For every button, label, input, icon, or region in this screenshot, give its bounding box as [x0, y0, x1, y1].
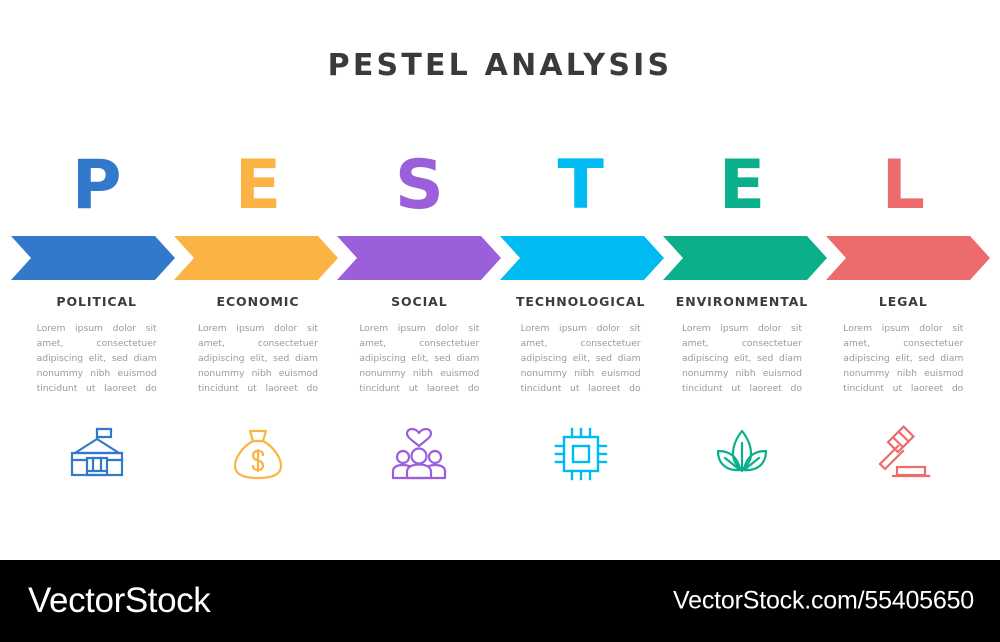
- letter-cell-economic: E: [177, 148, 338, 224]
- chevron-technological[interactable]: [500, 236, 664, 280]
- microchip-icon: [549, 423, 613, 485]
- column-body-political: Lorem ipsum dolor sit amet, consectetuer…: [37, 322, 157, 397]
- column-heading-environmental: ENVIRONMENTAL: [676, 294, 808, 309]
- gavel-icon: [871, 423, 935, 485]
- column-heading-political: POLITICAL: [56, 294, 137, 309]
- big-letter-p: P: [72, 152, 122, 220]
- page-title: PESTEL ANALYSIS: [0, 48, 1000, 83]
- chevron-legal[interactable]: [826, 236, 990, 280]
- people-heart-icon: [387, 423, 451, 485]
- letter-cell-social: S: [339, 148, 500, 224]
- leaves-plant-icon: [710, 423, 774, 485]
- column-body-social: Lorem ipsum dolor sit amet, consectetuer…: [359, 322, 479, 397]
- chevron-political[interactable]: [11, 236, 175, 280]
- column-social: SOCIAL Lorem ipsum dolor sit amet, conse…: [339, 294, 500, 485]
- column-heading-legal: LEGAL: [879, 294, 928, 309]
- column-body-legal: Lorem ipsum dolor sit amet, consectetuer…: [843, 322, 963, 397]
- chevron-environmental[interactable]: [663, 236, 827, 280]
- watermark-footer: VectorStock VectorStock.com/55405650: [0, 560, 1000, 642]
- money-bag-icon: [226, 423, 290, 485]
- chevron-arrow-band: [11, 236, 989, 280]
- big-letter-s: S: [395, 152, 444, 220]
- column-body-environmental: Lorem ipsum dolor sit amet, consectetuer…: [682, 322, 802, 397]
- big-letter-l: L: [882, 152, 925, 220]
- big-letter-e1: E: [235, 152, 281, 220]
- letter-cell-political: P: [16, 148, 177, 224]
- column-heading-social: SOCIAL: [391, 294, 448, 309]
- column-political: POLITICAL Lorem ipsum dolor sit amet, co…: [16, 294, 177, 485]
- column-heading-technological: TECHNOLOGICAL: [516, 294, 645, 309]
- column-heading-economic: ECONOMIC: [217, 294, 300, 309]
- vectorstock-logo: VectorStock: [28, 581, 210, 621]
- column-body-technological: Lorem ipsum dolor sit amet, consectetuer…: [521, 322, 641, 397]
- big-letter-t: T: [557, 152, 603, 220]
- column-economic: ECONOMIC Lorem ipsum dolor sit amet, con…: [177, 294, 338, 485]
- pestel-letters-row: P E S T E L: [16, 148, 984, 224]
- column-body-economic: Lorem ipsum dolor sit amet, consectetuer…: [198, 322, 318, 397]
- chevron-economic[interactable]: [174, 236, 338, 280]
- column-technological: TECHNOLOGICAL Lorem ipsum dolor sit amet…: [500, 294, 661, 485]
- letter-cell-environmental: E: [661, 148, 822, 224]
- vectorstock-url: VectorStock.com/55405650: [673, 587, 974, 616]
- big-letter-e2: E: [719, 152, 765, 220]
- columns-container: POLITICAL Lorem ipsum dolor sit amet, co…: [16, 294, 984, 485]
- government-building-icon: [65, 423, 129, 485]
- letter-cell-legal: L: [823, 148, 984, 224]
- chevron-social[interactable]: [337, 236, 501, 280]
- column-legal: LEGAL Lorem ipsum dolor sit amet, consec…: [823, 294, 984, 485]
- letter-cell-technological: T: [500, 148, 661, 224]
- column-environmental: ENVIRONMENTAL Lorem ipsum dolor sit amet…: [661, 294, 822, 485]
